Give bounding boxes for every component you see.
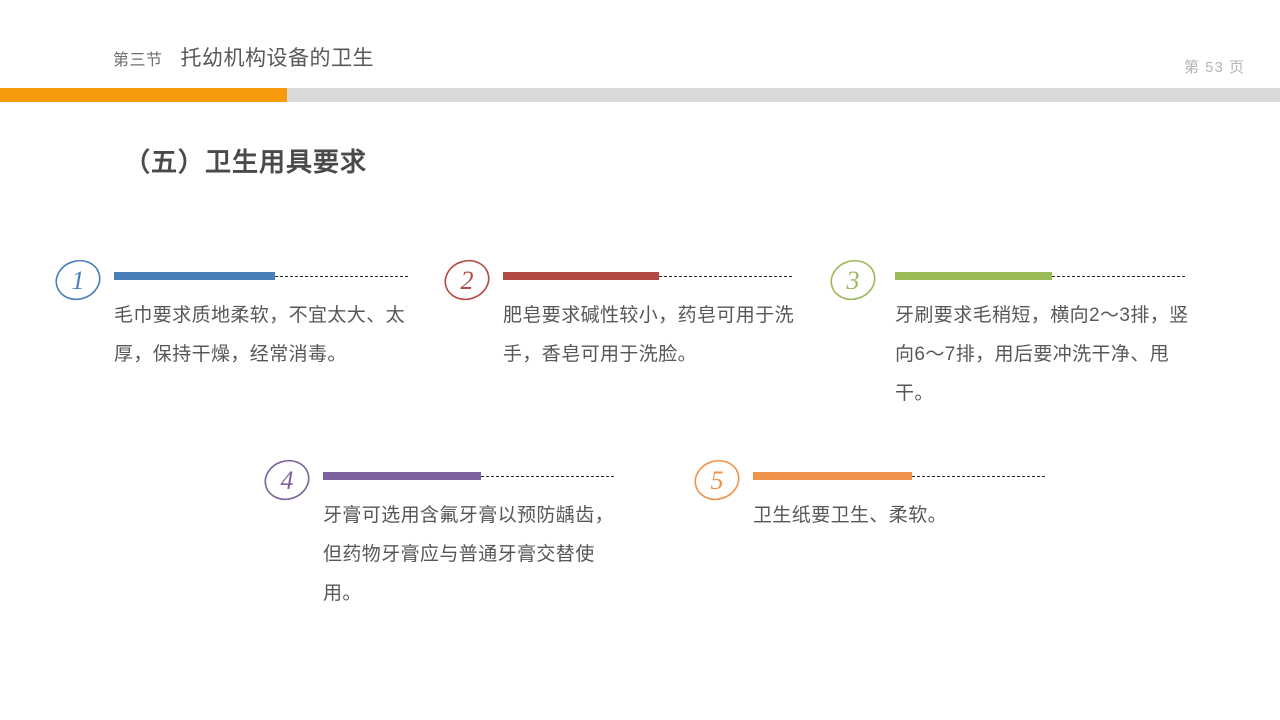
item-rule-solid — [114, 272, 275, 280]
circled-number-3-icon: 3 — [827, 256, 879, 304]
item-rule-solid — [753, 472, 912, 480]
header-section-kicker: 第三节 — [113, 46, 163, 70]
item-rule-solid — [895, 272, 1052, 280]
item-rule — [753, 472, 1045, 480]
item-rule-solid — [503, 272, 659, 280]
list-item-text: 卫生纸要卫生、柔软。 — [753, 496, 1083, 535]
list-item-text: 毛巾要求质地柔软，不宜太大、太厚，保持干燥，经常消毒。 — [114, 296, 424, 374]
numeral-glyph: 1 — [72, 266, 85, 295]
list-item-text: 牙刷要求毛稍短，横向2～3排，竖向6～7排，用后要冲洗干净、甩干。 — [895, 296, 1205, 413]
circled-number-4-icon: 4 — [261, 456, 313, 504]
list-item-text: 肥皂要求碱性较小，药皂可用于洗手，香皂可用于洗脸。 — [503, 296, 803, 374]
numeral-glyph: 2 — [461, 266, 474, 295]
item-rule-dashed — [481, 476, 614, 477]
circled-number-1-icon: 1 — [52, 256, 104, 304]
progress-fill — [0, 88, 287, 102]
circled-number-2-icon: 2 — [441, 256, 493, 304]
item-rule-dashed — [1052, 276, 1185, 277]
item-rule-dashed — [275, 276, 408, 277]
header-title: 托幼机构设备的卫生 — [181, 42, 375, 72]
item-rule-dashed — [659, 276, 792, 277]
circled-number-5-icon: 5 — [691, 456, 743, 504]
header-title-group: 第三节 托幼机构设备的卫生 — [113, 42, 374, 72]
slide-header: 第三节 托幼机构设备的卫生 第 53 页 — [0, 0, 1280, 88]
item-rule — [323, 472, 614, 480]
page-number: 第 53 页 — [1184, 56, 1245, 77]
item-rule — [895, 272, 1185, 280]
item-rule — [503, 272, 792, 280]
item-rule — [114, 272, 408, 280]
progress-track — [0, 88, 1280, 102]
numeral-glyph: 3 — [846, 266, 860, 295]
numeral-glyph: 5 — [711, 466, 724, 495]
numeral-glyph: 4 — [281, 466, 294, 495]
item-rule-dashed — [912, 476, 1045, 477]
item-rule-solid — [323, 472, 481, 480]
list-item-text: 牙膏可选用含氟牙膏以预防龋齿，但药物牙膏应与普通牙膏交替使用。 — [323, 496, 623, 613]
page-title: （五）卫生用具要求 — [124, 142, 367, 179]
